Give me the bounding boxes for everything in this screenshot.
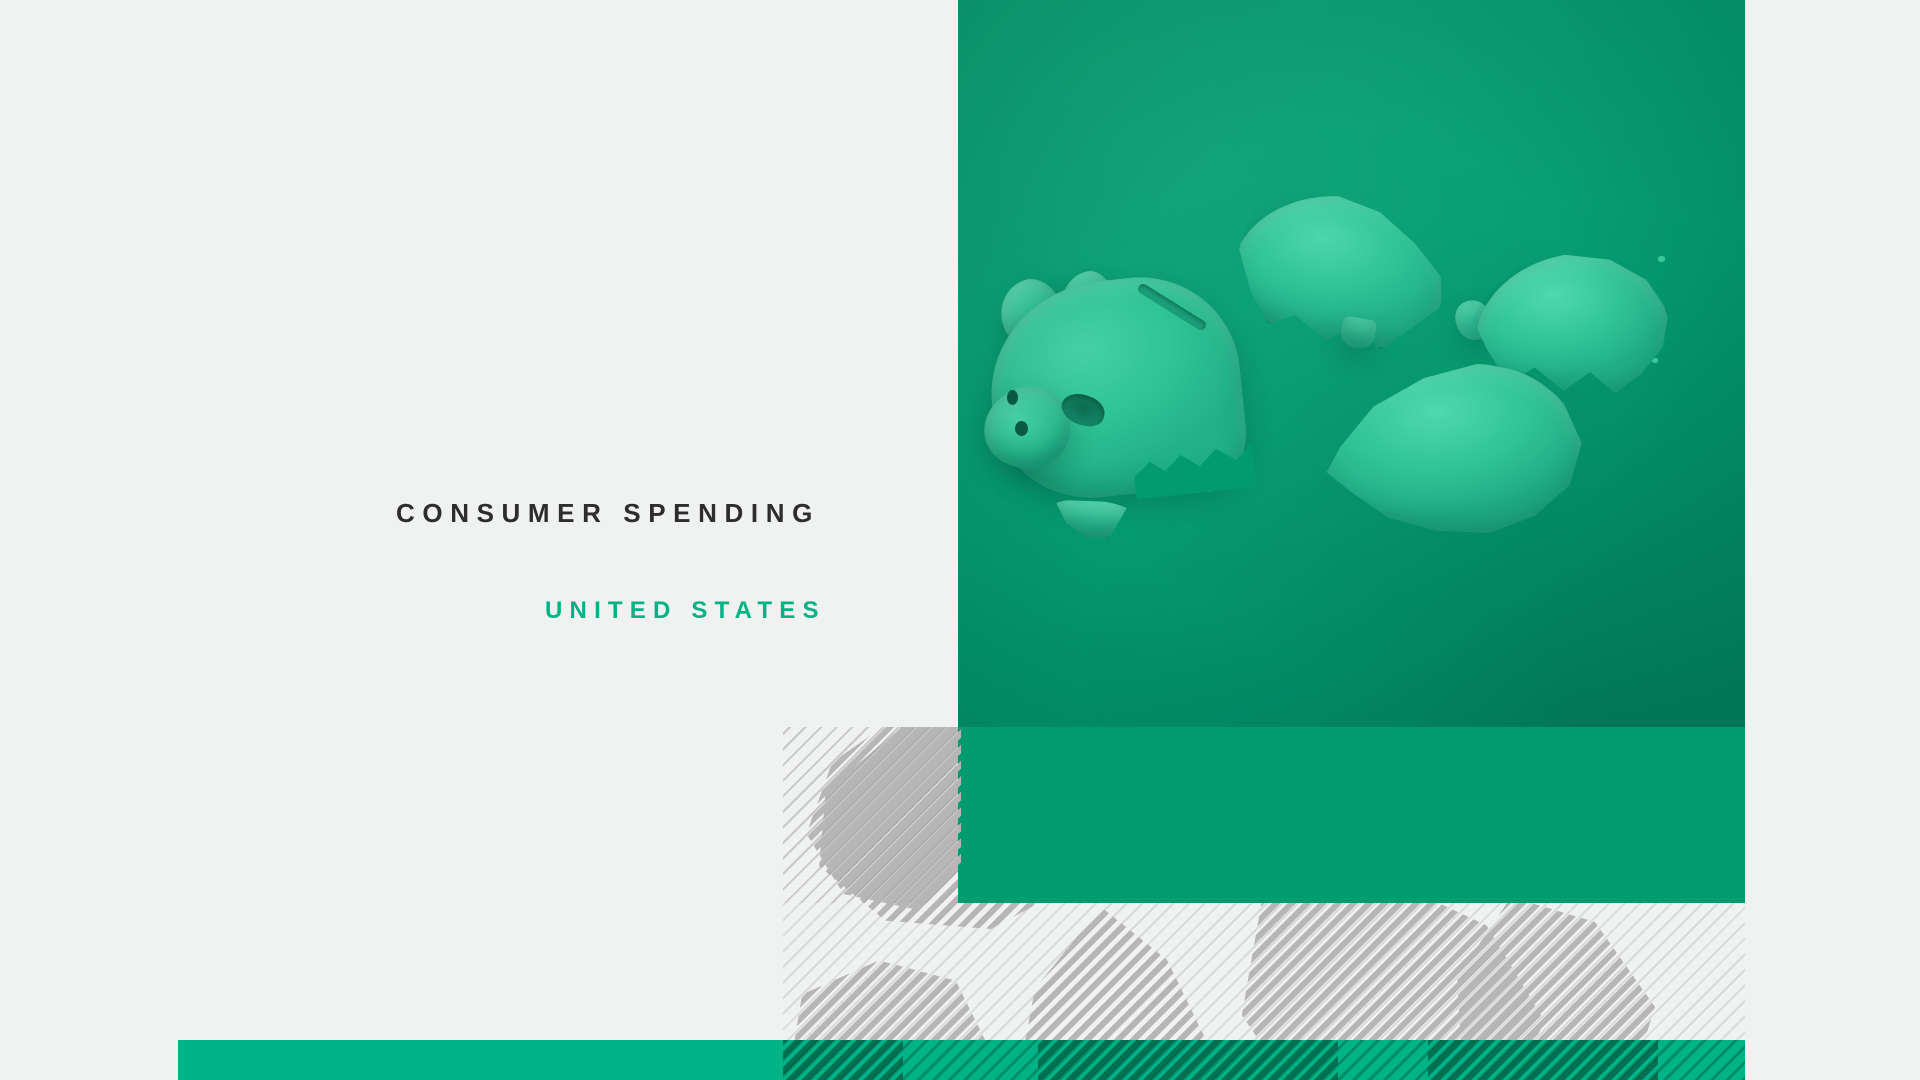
bottom-bar-hatch-overlay <box>783 1040 1745 1080</box>
bottom-bar-hatch-shape <box>1428 1040 1658 1080</box>
headline-block: CONSUMER SPENDING UNITED STATES <box>396 500 956 623</box>
bottom-accent-bar <box>178 1040 1745 1080</box>
decorative-hatch-pattern <box>783 727 1745 1080</box>
page-subtitle-region: UNITED STATES <box>396 526 956 623</box>
slide-canvas: CONSUMER SPENDING UNITED STATES <box>0 0 1920 1080</box>
hatch-panel-notch <box>958 727 1745 903</box>
page-title: CONSUMER SPENDING <box>396 500 956 526</box>
bottom-bar-hatch-shape <box>783 1040 903 1080</box>
bottom-bar-hatch-shape <box>1038 1040 1338 1080</box>
